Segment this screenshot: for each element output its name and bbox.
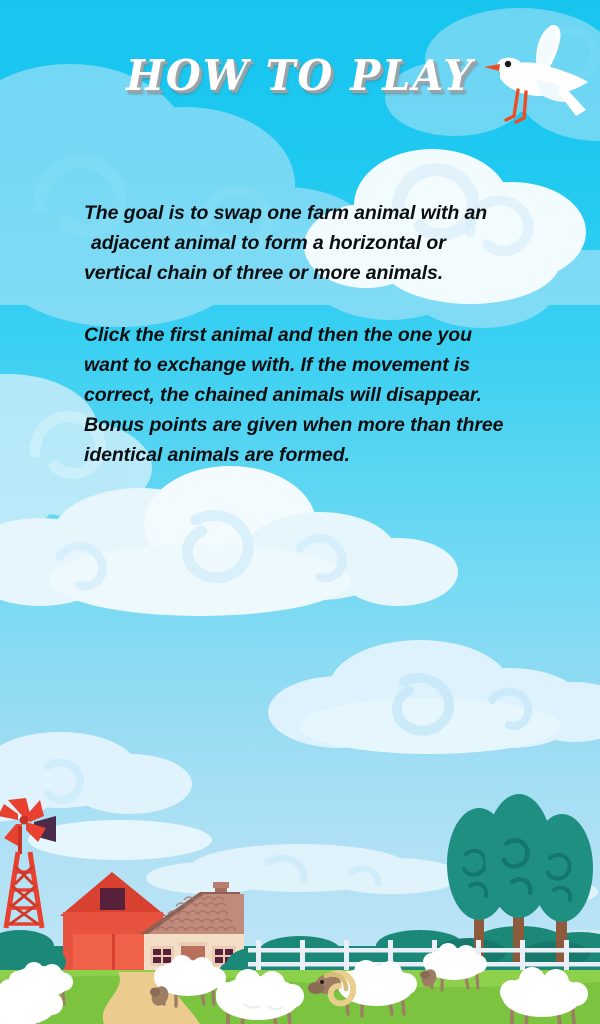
instruction-line: want to exchange with. If the movement i… [84, 350, 534, 380]
instruction-line: vertical chain of three or more animals. [84, 258, 534, 288]
instruction-line: The goal is to swap one farm animal with… [84, 198, 534, 228]
page-title: HOW TO PLAY [126, 51, 474, 101]
farm-landscape [0, 794, 600, 1024]
seagull-beak [484, 64, 500, 71]
instruction-line: adjacent animal to form a horizontal or [84, 228, 534, 258]
how-to-play-screen: HOW TO PLAY The goal is to swap one farm… [0, 0, 600, 1024]
instruction-line: identical animals are formed. [84, 440, 534, 470]
cloud-mid-band [0, 466, 458, 616]
instruction-line: Bonus points are given when more than th… [84, 410, 534, 440]
instruction-line: correct, the chained animals will disapp… [84, 380, 534, 410]
instructions-block: The goal is to swap one farm animal with… [84, 198, 534, 470]
barn-loft-window [100, 888, 125, 910]
instruction-line: Click the first animal and then the one … [84, 320, 534, 350]
cloud-lower-right [268, 640, 600, 754]
instruction-paragraph-controls: Click the first animal and then the one … [84, 320, 534, 470]
seagull-icon [478, 24, 590, 132]
instruction-paragraph-goal: The goal is to swap one farm animal with… [84, 198, 534, 288]
windmill-icon [0, 798, 56, 928]
